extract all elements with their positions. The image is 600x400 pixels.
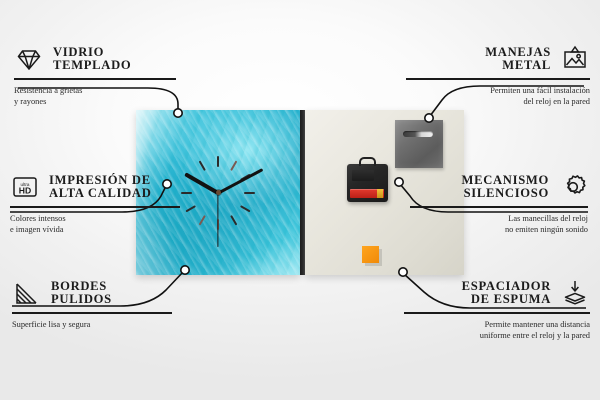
mechanism-hook	[359, 157, 376, 166]
feature-title-line2: METAL	[485, 59, 551, 72]
gear-icon	[558, 172, 588, 202]
feature-manejas-metal: MANEJAS METAL Permiten una fácil instala…	[394, 44, 590, 107]
clock-mechanism	[347, 164, 388, 202]
foam-spacer-icon	[560, 278, 590, 308]
feature-underline	[410, 206, 588, 208]
feature-impresion-alta-calidad: ultra HD IMPRESIÓN DE ALTA CALIDAD Color…	[10, 172, 200, 235]
ultra-hd-icon: ultra HD	[10, 172, 40, 202]
feature-title-line2: DE ESPUMA	[462, 293, 551, 306]
feature-bordes-pulidos: BORDES PULIDOS Superficie lisa y segura	[12, 278, 188, 330]
feature-subtitle: Las manecillas del reloj no emiten ningú…	[398, 213, 588, 236]
product-infographic: VIDRIO TEMPLADO Resistencia a grietas y …	[0, 0, 600, 400]
ultra-hd-icon-large-text: HD	[19, 185, 31, 195]
feature-underline	[12, 312, 172, 314]
polished-edges-icon	[12, 278, 42, 308]
diamond-icon	[14, 44, 44, 74]
feature-subtitle: Colores intensos e imagen vívida	[10, 213, 200, 236]
feature-title-line2: TEMPLADO	[53, 59, 131, 72]
foam-spacer-pad	[362, 246, 379, 263]
feature-subtitle: Resistencia a grietas y rayones	[14, 85, 194, 108]
picture-hanger-icon	[560, 44, 590, 74]
feature-espaciador-espuma: ESPACIADOR DE ESPUMA Permite mantener un…	[392, 278, 590, 341]
feature-subtitle: Permite mantener una distancia uniforme …	[392, 319, 590, 342]
feature-underline	[404, 312, 590, 314]
feature-underline	[406, 78, 590, 80]
metal-hanger-plate	[395, 120, 443, 168]
feature-mecanismo-silencioso: MECANISMO SILENCIOSO Las manecillas del …	[398, 172, 588, 235]
battery	[350, 189, 384, 198]
feature-subtitle: Permiten una fácil instalación del reloj…	[394, 85, 590, 108]
feature-underline	[10, 206, 180, 208]
feature-vidrio-templado: VIDRIO TEMPLADO Resistencia a grietas y …	[14, 44, 194, 107]
mechanism-label	[352, 170, 374, 181]
feature-underline	[14, 78, 176, 80]
feature-subtitle: Superficie lisa y segura	[12, 319, 188, 330]
feature-title-line2: PULIDOS	[51, 293, 112, 306]
feature-title-line2: SILENCIOSO	[462, 187, 549, 200]
feature-title-line2: ALTA CALIDAD	[49, 187, 152, 200]
hanger-keyhole-slot	[403, 131, 433, 137]
clock-center-hub	[216, 190, 221, 195]
